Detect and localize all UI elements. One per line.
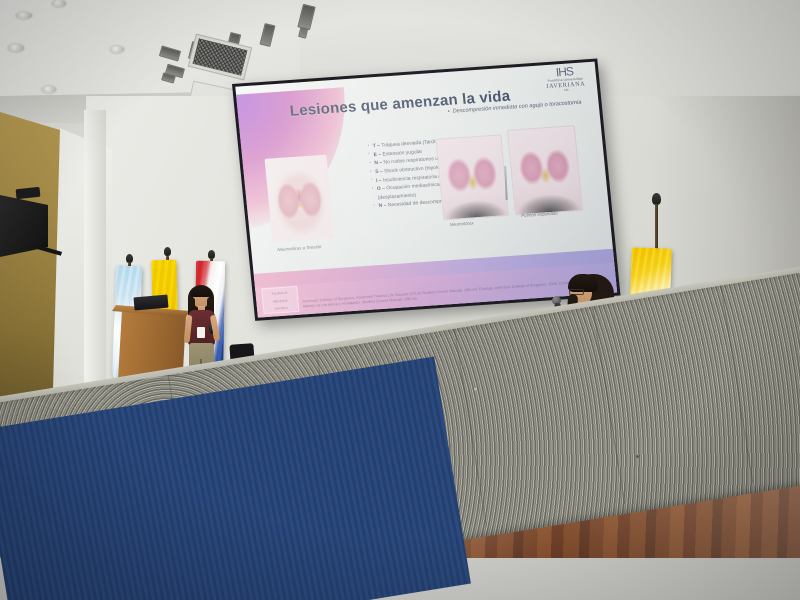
badge-line-3: Javeriana (264, 305, 298, 312)
flag-finial (164, 247, 171, 256)
anatomy-figure-expanded-lung (507, 125, 583, 215)
badge-line-1: Facultad de (262, 290, 296, 297)
hair-front (191, 286, 211, 297)
downlight-icon (8, 44, 24, 52)
figure-caption-1: Neumotórax (450, 220, 474, 227)
wall-wood-panel (0, 112, 60, 412)
downlight-icon (110, 46, 124, 53)
lanyard-card (197, 327, 205, 338)
figure-caption-2: Pulmón expandido (521, 211, 558, 219)
anatomy-figure-pneumothorax (435, 134, 509, 220)
downlight-icon (42, 86, 56, 93)
auditorium-photograph: Lesiones que amenzan la vida IHS Pontifi… (0, 0, 800, 600)
faculty-badge: Facultad de MEDICINA Javeriana (261, 286, 299, 314)
anatomy-figure-tension-pneumothorax (264, 155, 334, 243)
downlight-icon (52, 0, 66, 7)
ledge-seam (592, 306, 625, 504)
needle-decompression-icon (504, 166, 507, 200)
ledge-seam (454, 329, 487, 527)
ledge-seam (720, 286, 753, 484)
javeriana-logo: IHS Pontificia Universidad JAVERIANA Cal… (541, 64, 589, 93)
badge-line-2: MEDICINA (263, 297, 297, 304)
downlight-icon (16, 12, 32, 19)
figure-caption-left: Neumotórax a Tensión (277, 244, 321, 252)
